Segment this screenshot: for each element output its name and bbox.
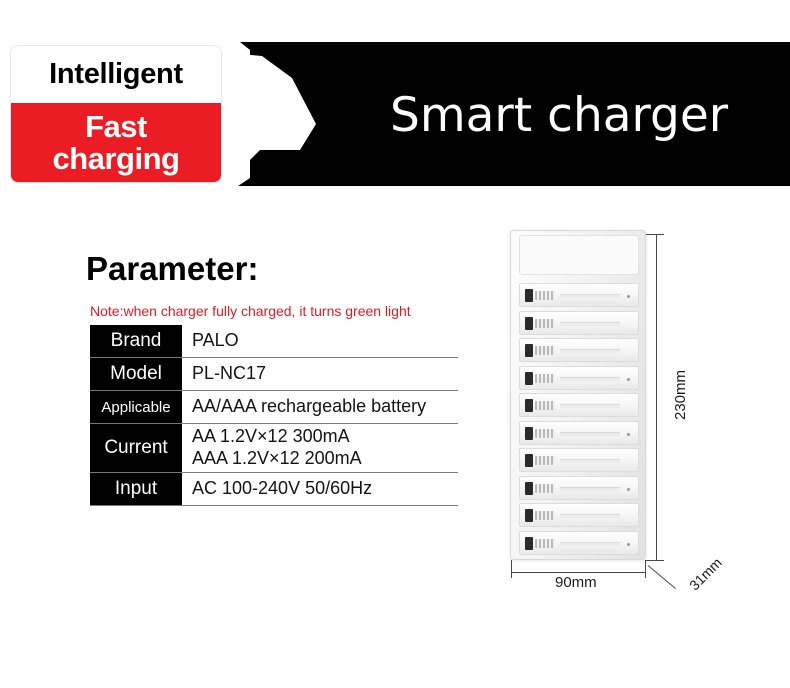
led-indicator — [627, 543, 630, 546]
slot-contact — [525, 372, 533, 385]
spec-value-model: PL-NC17 — [182, 358, 458, 390]
spec-key-current: Current — [90, 424, 182, 472]
slot-rail — [560, 349, 620, 353]
led-indicator — [627, 378, 630, 381]
slot-spring — [535, 539, 555, 548]
slot-rail — [560, 294, 620, 298]
slot-contact — [525, 537, 533, 550]
spec-value-line: AA/AAA rechargeable battery — [192, 396, 458, 418]
led-indicator — [627, 433, 630, 436]
slot-rail — [560, 432, 620, 436]
slot-rail — [560, 459, 620, 463]
banner-title: Smart charger — [390, 88, 728, 143]
slot-spring — [535, 401, 555, 410]
battery-slot — [519, 448, 639, 472]
spec-key-input: Input — [90, 473, 182, 505]
slot-contact — [525, 427, 533, 440]
slot-rail — [560, 514, 620, 518]
intelligent-fast-charging-badge: Intelligent Fast charging — [10, 45, 222, 183]
spec-value-current: AA 1.2V×12 300mA AAA 1.2V×12 200mA — [182, 424, 458, 472]
battery-slot — [519, 311, 639, 335]
battery-slot — [519, 421, 639, 445]
slot-rail — [560, 377, 620, 381]
slot-contact — [525, 509, 533, 522]
top-banner: Intelligent Fast charging Smart charger — [0, 0, 790, 196]
slot-contact — [525, 344, 533, 357]
parameter-note: Note:when charger fully charged, it turn… — [90, 303, 411, 319]
parameter-heading: Parameter: — [86, 250, 258, 288]
battery-slot — [519, 338, 639, 362]
spec-key-brand: Brand — [90, 325, 182, 357]
spec-value-input: AC 100-240V 50/60Hz — [182, 473, 458, 505]
slot-spring — [535, 429, 555, 438]
table-row: Applicable AA/AAA rechargeable battery — [90, 391, 458, 424]
battery-slot — [519, 476, 639, 500]
spec-value-line: PL-NC17 — [192, 363, 458, 385]
slot-spring — [535, 456, 555, 465]
battery-slot-area — [519, 283, 639, 555]
spec-value-line: AAA 1.2V×12 200mA — [192, 448, 458, 470]
led-indicator — [627, 488, 630, 491]
spec-value-line: AA 1.2V×12 300mA — [192, 426, 458, 448]
slot-spring — [535, 511, 555, 520]
slot-contact — [525, 289, 533, 302]
table-row: Brand PALO — [90, 325, 458, 358]
slot-contact — [525, 399, 533, 412]
width-dim-tick-right — [645, 560, 646, 578]
width-dim-label: 90mm — [555, 574, 597, 591]
slot-spring — [535, 374, 555, 383]
spec-key-applicable: Applicable — [90, 391, 182, 423]
slot-spring — [535, 291, 555, 300]
slot-spring — [535, 319, 555, 328]
width-dim-tick-left — [511, 560, 512, 578]
spec-key-model: Model — [90, 358, 182, 390]
spec-value-applicable: AA/AAA rechargeable battery — [182, 391, 458, 423]
slot-rail — [560, 542, 620, 546]
table-row: Current AA 1.2V×12 300mA AAA 1.2V×12 200… — [90, 424, 458, 473]
battery-slot — [519, 366, 639, 390]
table-row: Model PL-NC17 — [90, 358, 458, 391]
badge-fast-label: Fast — [85, 111, 147, 143]
depth-dim-label: 31mm — [686, 554, 725, 593]
slot-rail — [560, 404, 620, 408]
charger-top-panel — [519, 235, 639, 275]
battery-slot — [519, 531, 639, 555]
height-dim-line — [656, 234, 657, 560]
slot-rail — [560, 487, 620, 491]
width-dim-line — [511, 572, 645, 573]
charger-body — [510, 230, 646, 560]
slot-contact — [525, 454, 533, 467]
led-indicator — [627, 295, 630, 298]
slot-rail — [560, 322, 620, 326]
badge-charging-label: charging — [53, 143, 180, 175]
battery-slot — [519, 503, 639, 527]
depth-dim-line — [648, 565, 676, 589]
slot-spring — [535, 346, 555, 355]
slot-contact — [525, 317, 533, 330]
spec-value-line: AC 100-240V 50/60Hz — [192, 478, 458, 500]
height-dim-tick-top — [646, 234, 664, 235]
spec-value-brand: PALO — [182, 325, 458, 357]
height-dim-tick-bottom — [646, 560, 664, 561]
battery-slot — [519, 283, 639, 307]
spec-value-line: PALO — [192, 330, 458, 352]
height-dim-label: 230mm — [672, 370, 689, 420]
badge-top-section: Intelligent — [11, 46, 221, 103]
specification-table: Brand PALO Model PL-NC17 Applicable AA/A… — [90, 325, 458, 506]
slot-spring — [535, 484, 555, 493]
slot-contact — [525, 482, 533, 495]
battery-slot — [519, 393, 639, 417]
badge-bottom-section: Fast charging — [11, 103, 221, 183]
badge-intelligent-label: Intelligent — [49, 58, 183, 91]
table-row: Input AC 100-240V 50/60Hz — [90, 473, 458, 506]
